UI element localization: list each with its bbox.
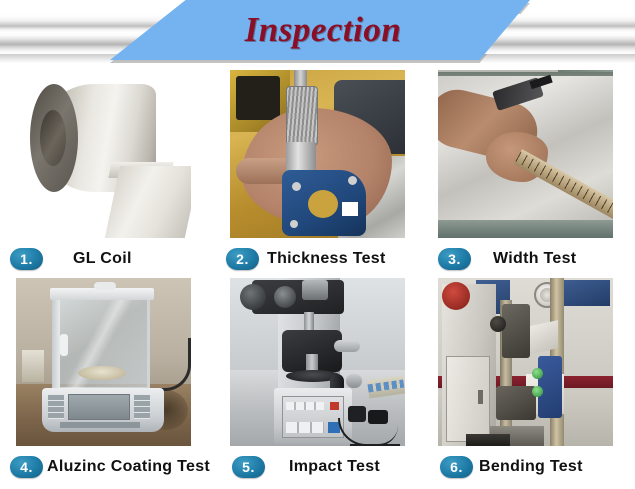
rail-shape (438, 220, 613, 238)
caption-2: 2. Thickness Test (226, 242, 434, 276)
glass-side-handle-shape (60, 334, 68, 356)
badge-number-5: 5. (232, 456, 265, 478)
green-indicator-2 (532, 386, 543, 397)
green-indicator-1 (532, 368, 543, 379)
blue-cover-shape-2 (564, 280, 610, 306)
caption-1: 1. GL Coil (10, 242, 218, 276)
glass-top-handle-shape (94, 282, 116, 290)
beaker-shape (22, 350, 44, 382)
caption-5: 5. Impact Test (232, 450, 440, 484)
badge-number-3: 3. (438, 248, 471, 270)
caption-label-6: Bending Test (479, 458, 583, 476)
balance-buttons-left (48, 395, 64, 419)
adjust-knob-shape (334, 340, 360, 352)
head-module-shape (302, 280, 328, 300)
black-pad-shape (236, 76, 280, 120)
power-strip-switches (367, 380, 404, 393)
cabinet-door-shape (446, 356, 490, 442)
balance-display-shape (68, 394, 130, 420)
ram-handle-knob-shape (490, 316, 506, 332)
micrometer-rivet-2 (348, 176, 357, 185)
caption-label-5: Impact Test (289, 458, 380, 476)
bending-ram-shape (502, 304, 530, 358)
gl-coil-photo (16, 70, 191, 238)
side-knob-shape (346, 374, 362, 388)
panel-red-button (330, 402, 339, 410)
panel-button-row-1 (286, 402, 324, 410)
impact-test-photo (230, 278, 405, 446)
machine-foot-shape (466, 434, 510, 446)
aluzinc-coating-test-photo (16, 278, 191, 446)
banner-trapezoid: Inspection (110, 0, 530, 60)
page-title: Inspection (110, 0, 530, 60)
caption-label-4: Aluzinc Coating Test (47, 458, 210, 476)
eyepiece-lens-2 (274, 286, 296, 308)
coil-strip-shape (104, 166, 191, 238)
badge-number-2: 2. (226, 248, 259, 270)
page-header: Inspection (0, 0, 635, 66)
balance-front-strip (60, 422, 140, 428)
caption-6: 6. Bending Test (440, 450, 635, 484)
caption-3: 3. Width Test (438, 242, 635, 276)
vise-clamp-shape (496, 386, 536, 420)
micrometer-rivet-3 (290, 220, 298, 228)
eyepiece-lens-1 (240, 284, 266, 310)
inspection-grid: 1. GL Coil 2. Thickness Test (0, 66, 635, 489)
badge-number-1: 1. (10, 248, 43, 270)
coil-hole-shape (40, 110, 66, 166)
micrometer-frame-hole-shape (308, 190, 338, 218)
micrometer-label-sticker (342, 202, 358, 216)
bending-test-photo (438, 278, 613, 446)
caption-label-2: Thickness Test (267, 250, 386, 268)
caption-label-3: Width Test (493, 250, 576, 268)
caption-4: 4. Aluzinc Coating Test (10, 450, 218, 484)
badge-number-6: 6. (440, 456, 473, 478)
micrometer-rivet-1 (292, 182, 301, 191)
cabinet-handle-shape (478, 390, 483, 404)
adapter-plug-1 (348, 406, 366, 422)
thickness-test-photo (230, 70, 405, 238)
weighing-pan-shape (78, 366, 126, 380)
width-test-photo (438, 70, 613, 238)
badge-number-4: 4. (10, 456, 43, 478)
balance-buttons-right (134, 395, 150, 419)
adapter-plug-2 (368, 410, 388, 424)
micrometer-knurl-shape (286, 86, 318, 146)
glass-left-frame-shape (52, 296, 60, 390)
panel-button-row-2 (286, 422, 324, 433)
caption-label-1: GL Coil (73, 250, 132, 268)
red-handwheel-shape (442, 282, 470, 310)
